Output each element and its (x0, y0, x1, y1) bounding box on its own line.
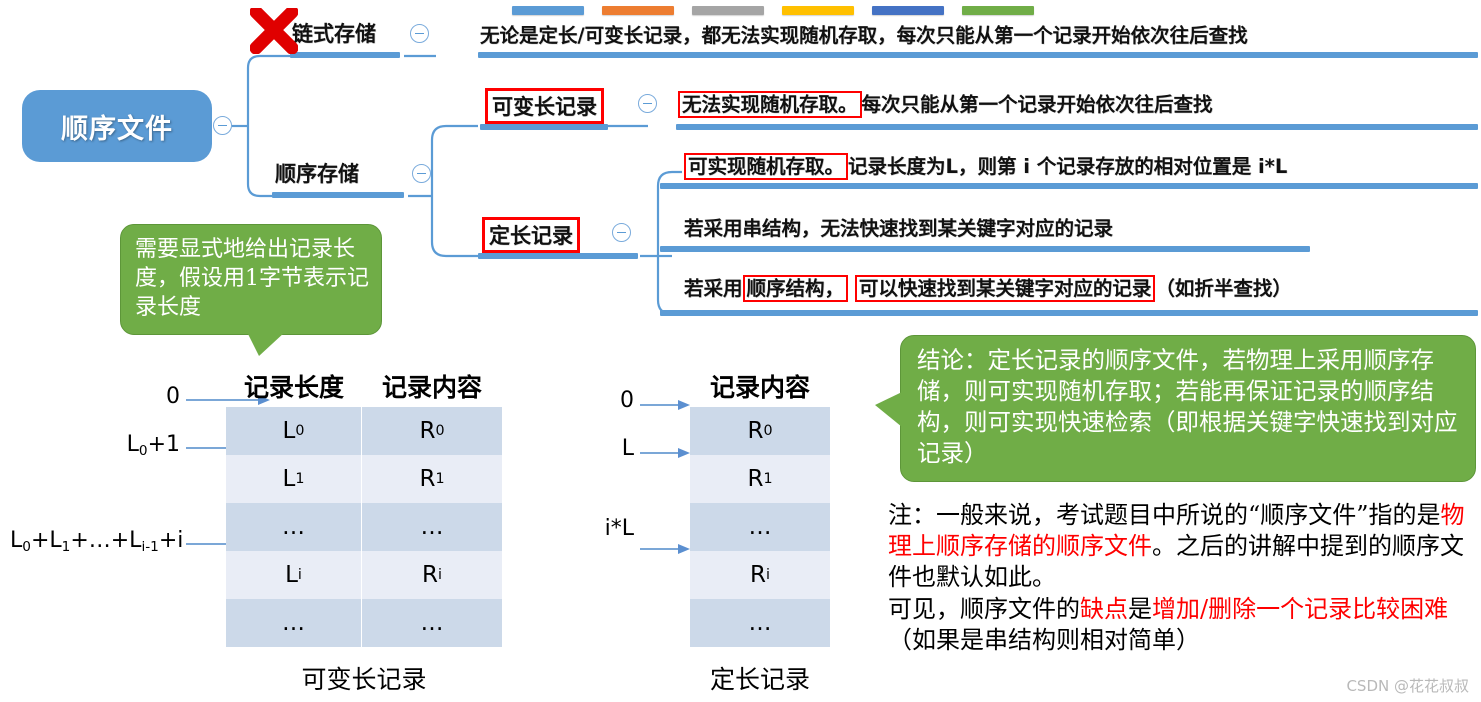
color-bar-3 (692, 6, 764, 15)
leaf-variable-underline (676, 124, 1478, 130)
table-row: … (690, 503, 830, 551)
color-bar-5 (872, 6, 944, 15)
cell-length: … (226, 599, 362, 647)
table-row: … … (226, 503, 502, 551)
offset-label-fix-0: 0 (560, 388, 634, 413)
node-chain-storage-underline (290, 52, 400, 58)
node-fixed-length-record-label[interactable]: 定长记录 (482, 217, 580, 253)
leaf-fixed-3-prefix: 若采用 (684, 277, 743, 300)
note-red-3: 增加/删除一个记录比较困难 (1152, 595, 1448, 623)
table-row: … … (226, 599, 502, 647)
callout-conclusion: 结论：定长记录的顺序文件，若物理上采用顺序存储，则可实现随机存取；若能再保证记录… (900, 335, 1476, 482)
fixed-length-record-table: 记录内容 R0 R1 … Ri … 定长记录 (690, 368, 830, 696)
node-chain-storage-label[interactable]: 链式存储 (292, 18, 376, 48)
node-variable-length-record-label[interactable]: 可变长记录 (485, 88, 604, 124)
root-collapse-toggle-icon[interactable] (213, 116, 232, 135)
sequential-storage-collapse-icon[interactable] (412, 164, 431, 183)
mindmap-root-node[interactable]: 顺序文件 (22, 90, 212, 162)
variable-table-headers: 记录长度 记录内容 (226, 368, 502, 404)
callout-record-length-note: 需要显式地给出记录长度，假设用1字节表示记录长度 (120, 224, 382, 335)
offset-label-var-0: 0 (100, 384, 180, 409)
cell-length: L1 (226, 455, 362, 503)
node-sequential-storage-label[interactable]: 顺序存储 (275, 158, 359, 188)
variable-table-caption: 可变长记录 (226, 660, 502, 696)
offset-label-var-1: L0+1 (60, 432, 180, 459)
variable-table-header-0: 记录长度 (226, 368, 362, 404)
offset-label-fix-1: L (560, 436, 634, 461)
color-bar-6 (962, 6, 1034, 15)
leaf-fixed-string-structure[interactable]: 若采用串结构，无法快速找到某关键字对应的记录 (684, 212, 1113, 241)
leaf-fixed-3-box1: 顺序结构， (743, 275, 849, 302)
cell-content: R0 (362, 407, 502, 455)
leaf-fixed-sequential-structure[interactable]: 若采用顺序结构， 可以快速找到某关键字对应的记录（如折半查找） (684, 272, 1292, 301)
cell-content: … (690, 599, 830, 647)
leaf-variable-highlight: 无法实现随机存取。 (678, 91, 862, 118)
cell-length: L0 (226, 407, 362, 455)
node-variable-length-record-underline (480, 124, 608, 130)
table-row: L0 R0 (226, 407, 502, 455)
callout-right-text: 结论：定长记录的顺序文件，若物理上采用顺序存储，则可实现随机存取；若能再保证记录… (917, 346, 1458, 467)
fixed-table-caption: 定长记录 (690, 660, 830, 696)
offset-label-fix-2: i*L (550, 516, 634, 541)
cell-length: … (226, 503, 362, 551)
node-fixed-length-record-underline (478, 253, 638, 259)
color-bar-2 (602, 6, 674, 15)
leaf-variable-random-access[interactable]: 无法实现随机存取。每次只能从第一个记录开始依次往后查找 (678, 88, 1213, 117)
leaf-fixed-random-access[interactable]: 可实现随机存取。记录长度为L，则第 i 个记录存放的相对位置是 i*L (684, 150, 1287, 179)
leaf-fixed-2-underline (660, 246, 1310, 252)
variable-table-header-1: 记录内容 (362, 368, 502, 404)
variable-length-record-table: 记录长度 记录内容 L0 R0 L1 R1 … … Li Ri … … (226, 368, 502, 696)
fixed-length-collapse-icon[interactable] (612, 223, 631, 242)
variable-table-body: L0 R0 L1 R1 … … Li Ri … … (226, 407, 502, 647)
cell-content: Ri (690, 551, 830, 599)
chain-storage-collapse-icon[interactable] (410, 24, 429, 43)
note-red-2: 缺点 (1080, 595, 1128, 623)
variable-length-collapse-icon[interactable] (638, 94, 657, 113)
leaf-fixed-3-suffix: （如折半查找） (1155, 277, 1292, 300)
table-row: … (690, 599, 830, 647)
note-seg-3: 可见，顺序文件的 (888, 595, 1080, 623)
color-bar-1 (512, 6, 584, 15)
slide-canvas: 顺序文件 链式存储 无论是定长/可变长记录，都无法实现随机存取，每次只能从第一个… (0, 0, 1481, 702)
cell-content: … (690, 503, 830, 551)
note-seg-1: 注：一般来说，考试题目中所说的“顺序文件”指的是 (888, 501, 1441, 529)
leaf-fixed-highlight: 可实现随机存取。 (684, 153, 848, 180)
fixed-table-headers: 记录内容 (690, 368, 830, 404)
cell-content: Ri (362, 551, 502, 599)
leaf-fixed-3-underline (660, 310, 1478, 316)
node-sequential-storage-underline (272, 192, 404, 198)
leaf-fixed-1-underline (660, 183, 1478, 189)
cell-content: … (362, 503, 502, 551)
color-bar-strip (512, 6, 1034, 15)
note-seg-4: 是 (1128, 595, 1152, 623)
watermark: CSDN @花花叔叔 (1346, 675, 1469, 696)
fixed-table-body: R0 R1 … Ri … (690, 407, 830, 647)
cell-content: R0 (690, 407, 830, 455)
color-bar-4 (782, 6, 854, 15)
leaf-chain-storage-text[interactable]: 无论是定长/可变长记录，都无法实现随机存取，每次只能从第一个记录开始依次往后查找 (480, 19, 1248, 48)
table-row: R1 (690, 455, 830, 503)
cell-content: … (362, 599, 502, 647)
cell-content: R1 (690, 455, 830, 503)
cell-length: Li (226, 551, 362, 599)
leaf-chain-storage-underline (478, 52, 1478, 58)
callout-left-text: 需要显式地给出记录长度，假设用1字节表示记录长度 (135, 237, 369, 320)
table-row: Ri (690, 551, 830, 599)
table-row: Li Ri (226, 551, 502, 599)
table-row: R0 (690, 407, 830, 455)
invalid-x-icon (250, 8, 298, 54)
table-row: L1 R1 (226, 455, 502, 503)
callout-right-tail (875, 392, 902, 427)
fixed-table-header-0: 记录内容 (690, 368, 830, 404)
note-seg-5: （如果是串结构则相对简单） (888, 626, 1200, 654)
leaf-fixed-rest: 记录长度为L，则第 i 个记录存放的相对位置是 i*L (848, 155, 1287, 178)
root-node-label: 顺序文件 (61, 107, 173, 146)
leaf-fixed-3-box2: 可以快速找到某关键字对应的记录 (855, 275, 1156, 302)
note-paragraph: 注：一般来说，考试题目中所说的“顺序文件”指的是物理上顺序存储的顺序文件。之后的… (888, 500, 1476, 656)
callout-left-tail (247, 332, 285, 356)
cell-content: R1 (362, 455, 502, 503)
offset-label-var-2: L0+L1+…+Li-1+i (10, 528, 180, 555)
leaf-variable-rest: 每次只能从第一个记录开始依次往后查找 (862, 93, 1213, 116)
